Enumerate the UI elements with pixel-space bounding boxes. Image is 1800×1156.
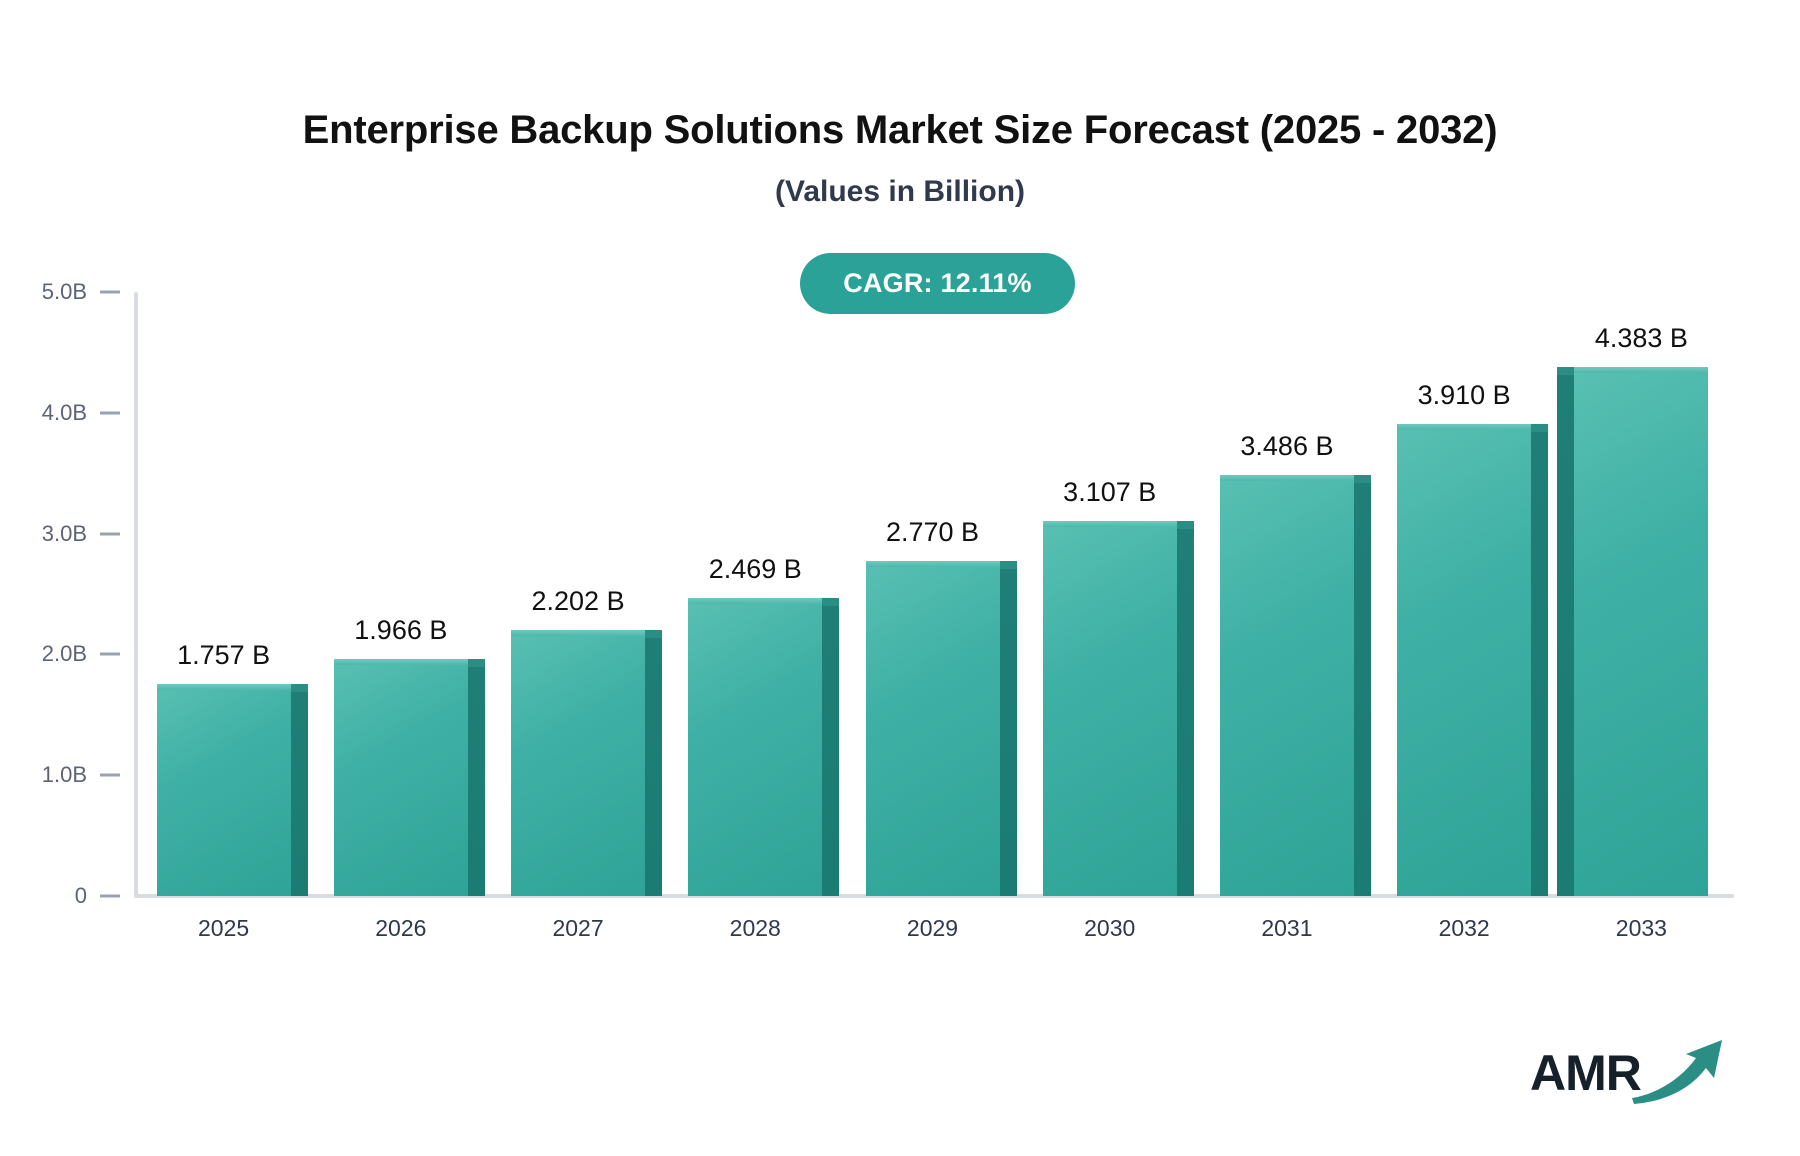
- bar[interactable]: 2.770 B: [866, 561, 1000, 896]
- bar-face: [688, 598, 822, 896]
- bar-3d-side: [1557, 375, 1574, 896]
- bar-value-label: 2.202 B: [471, 586, 685, 617]
- bar-face: [866, 561, 1000, 896]
- y-axis-tick-mark: [100, 895, 120, 898]
- bar-top-highlight: [1397, 424, 1531, 430]
- y-axis-tick-mark: [100, 532, 120, 535]
- x-axis-label: 2026: [341, 915, 461, 942]
- bar-3d-side: [1000, 569, 1017, 896]
- bar-3d-top-corner: [291, 684, 308, 692]
- bar-3d-side: [822, 606, 839, 896]
- bar-3d-top-corner: [822, 598, 839, 606]
- bar-3d-side: [1354, 483, 1371, 896]
- x-axis-label: 2030: [1050, 915, 1170, 942]
- bar-column[interactable]: 3.486 B: [1220, 292, 1354, 896]
- bar-top-highlight: [1220, 475, 1354, 481]
- bar-3d-side: [1177, 529, 1194, 896]
- y-axis-tick-label: 0: [0, 883, 87, 909]
- bar-top-highlight: [866, 561, 1000, 567]
- y-axis-tick-label: 5.0B: [0, 279, 87, 305]
- bar-value-label: 4.383 B: [1534, 323, 1748, 354]
- bar-value-label: 3.910 B: [1357, 380, 1571, 411]
- bar[interactable]: 3.486 B: [1220, 475, 1354, 896]
- bar-column[interactable]: 2.469 B: [688, 292, 822, 896]
- x-axis-labels: 202520262027202820292030203120322033: [135, 915, 1730, 955]
- bar-value-label: 3.107 B: [1003, 477, 1217, 508]
- page-title: Enterprise Backup Solutions Market Size …: [0, 108, 1800, 153]
- bar-top-highlight: [334, 659, 468, 665]
- bar-series: 1.757 B1.966 B2.202 B2.469 B2.770 B3.107…: [135, 292, 1730, 896]
- bar-3d-top-corner: [645, 630, 662, 638]
- bar-face: [1043, 521, 1177, 896]
- bar-column[interactable]: 4.383 B: [1574, 292, 1708, 896]
- bar[interactable]: 4.383 B: [1574, 367, 1708, 896]
- bar-top-highlight: [511, 630, 645, 636]
- y-axis-tick-label: 2.0B: [0, 641, 87, 667]
- bar-3d-top-corner: [1354, 475, 1371, 483]
- bar-column[interactable]: 3.910 B: [1397, 292, 1531, 896]
- bar-3d-top-corner: [1531, 424, 1548, 432]
- x-axis-label: 2028: [695, 915, 815, 942]
- bar-column[interactable]: 3.107 B: [1043, 292, 1177, 896]
- y-axis-tick-label: 3.0B: [0, 521, 87, 547]
- bar-top-highlight: [1574, 367, 1708, 373]
- bar-face: [1220, 475, 1354, 896]
- bar-face: [1574, 367, 1708, 896]
- chart-subtitle: (Values in Billion): [0, 175, 1800, 209]
- bar-3d-side: [468, 667, 485, 896]
- x-axis-label: 2031: [1227, 915, 1347, 942]
- x-axis-label: 2027: [518, 915, 638, 942]
- bar-3d-side: [291, 692, 308, 896]
- y-axis-tick-label: 1.0B: [0, 762, 87, 788]
- x-axis-label: 2033: [1581, 915, 1701, 942]
- bar[interactable]: 1.757 B: [157, 684, 291, 896]
- bar-value-label: 3.486 B: [1180, 431, 1394, 462]
- bar-3d-top-corner: [1177, 521, 1194, 529]
- y-axis-tick-mark: [100, 774, 120, 777]
- bar-face: [511, 630, 645, 896]
- bar-value-label: 2.770 B: [826, 517, 1040, 548]
- y-axis-tick-mark: [100, 291, 120, 294]
- bar-column[interactable]: 1.966 B: [334, 292, 468, 896]
- x-axis-label: 2032: [1404, 915, 1524, 942]
- bar-column[interactable]: 2.202 B: [511, 292, 645, 896]
- growth-arrow-icon: [1630, 1036, 1730, 1106]
- bar-3d-top-corner: [468, 659, 485, 667]
- bar-face: [1397, 424, 1531, 896]
- bar-value-label: 1.966 B: [294, 615, 508, 646]
- bar[interactable]: 2.202 B: [511, 630, 645, 896]
- bar-3d-top-corner: [1000, 561, 1017, 569]
- bar-top-highlight: [157, 684, 291, 690]
- x-axis-label: 2029: [873, 915, 993, 942]
- bar[interactable]: 3.107 B: [1043, 521, 1177, 896]
- bar-3d-top-corner: [1557, 367, 1574, 375]
- bar-column[interactable]: 2.770 B: [866, 292, 1000, 896]
- bar[interactable]: 2.469 B: [688, 598, 822, 896]
- bar-face: [334, 659, 468, 896]
- bar-top-highlight: [688, 598, 822, 604]
- bar[interactable]: 3.910 B: [1397, 424, 1531, 896]
- bar-column[interactable]: 1.757 B: [157, 292, 291, 896]
- bar-top-highlight: [1043, 521, 1177, 527]
- x-axis-label: 2025: [164, 915, 284, 942]
- bar-3d-side: [645, 638, 662, 896]
- y-axis-tick-mark: [100, 411, 120, 414]
- bar-3d-side: [1531, 432, 1548, 896]
- bar[interactable]: 1.966 B: [334, 659, 468, 896]
- amr-logo: AMR: [1530, 1040, 1730, 1120]
- y-axis-tick-label: 4.0B: [0, 400, 87, 426]
- bar-value-label: 2.469 B: [648, 554, 862, 585]
- bar-face: [157, 684, 291, 896]
- logo-wordmark: AMR: [1530, 1044, 1641, 1102]
- chart-canvas: Enterprise Backup Solutions Market Size …: [0, 0, 1800, 1156]
